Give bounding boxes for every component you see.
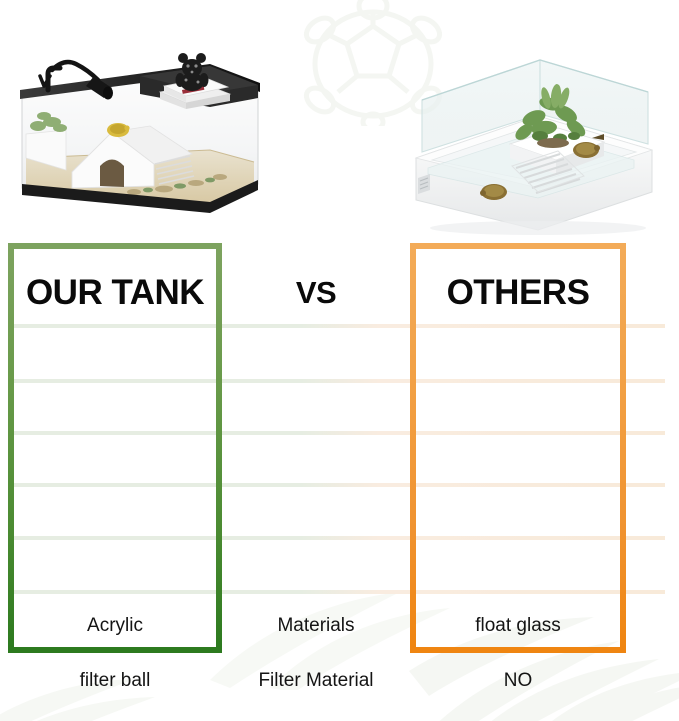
- our-tank-title: OUR TANK: [26, 274, 204, 313]
- vs-label: VS: [296, 276, 336, 310]
- others-value-cell: float glass: [416, 601, 620, 651]
- ours-value: filter ball: [80, 671, 151, 692]
- feature-label-cell: Heating Lamp: [228, 708, 404, 721]
- comparison-table-area: OUR TANK VS OTHERS Acrylic Materials flo…: [0, 243, 679, 661]
- ours-value: Acrylic: [87, 616, 143, 637]
- ours-value-cell: Include: [14, 708, 216, 721]
- others-value: NO: [504, 671, 533, 692]
- feature-label-cell: Filter Material: [228, 656, 404, 706]
- glass-turtle-tank-photo: [398, 40, 666, 235]
- table-row: filter ball Filter Material NO: [0, 656, 679, 706]
- feature-label-cell: Materials: [228, 601, 404, 651]
- table-header-row: OUR TANK VS OTHERS: [0, 265, 679, 321]
- header-cell-vs: VS: [228, 265, 404, 321]
- header-cell-ours: OUR TANK: [14, 265, 216, 321]
- comparison-table: OUR TANK VS OTHERS Acrylic Materials flo…: [0, 243, 679, 661]
- ours-value-cell: filter ball: [14, 656, 216, 706]
- ours-value-cell: Acrylic: [14, 601, 216, 651]
- acrylic-turtle-tank-photo: [14, 46, 266, 226]
- table-row: Include Heating Lamp NO: [0, 708, 679, 721]
- others-value-cell: NO: [416, 656, 620, 706]
- others-value: float glass: [475, 616, 561, 637]
- feature-label: Materials: [277, 616, 354, 637]
- others-value-cell: NO: [416, 708, 620, 721]
- comparison-infographic: OUR TANK VS OTHERS Acrylic Materials flo…: [0, 0, 679, 721]
- header-cell-others: OTHERS: [416, 265, 620, 321]
- feature-label: Filter Material: [258, 671, 373, 692]
- table-row: Acrylic Materials float glass: [0, 601, 679, 651]
- others-title: OTHERS: [447, 274, 590, 313]
